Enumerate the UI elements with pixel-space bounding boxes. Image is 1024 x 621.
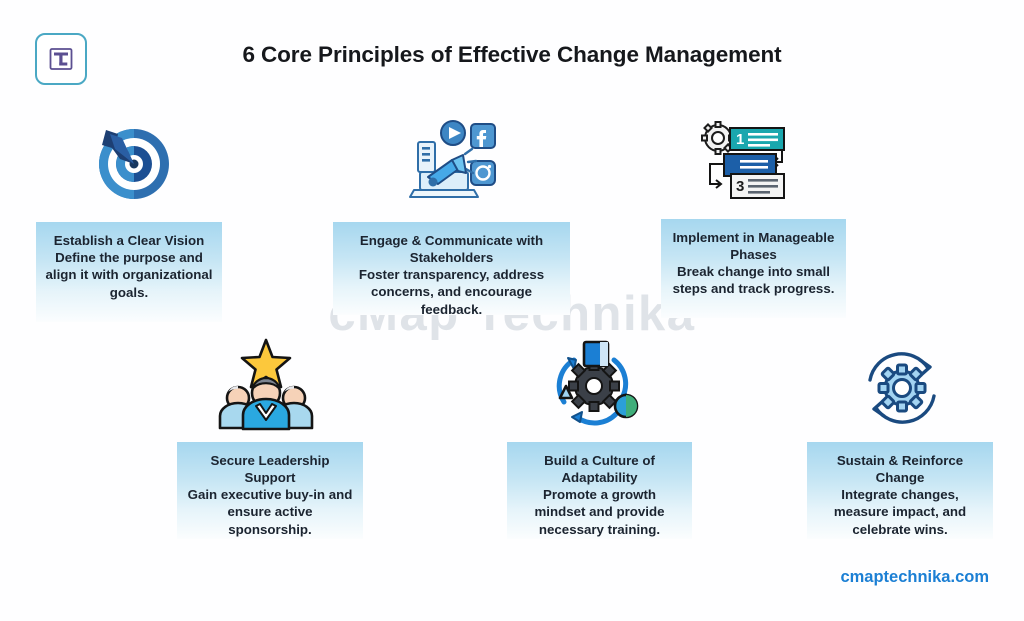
svg-text:1: 1 [736, 131, 744, 148]
svg-text:3: 3 [736, 178, 744, 195]
principle-card-4-title: Secure Leadership Support [186, 452, 354, 486]
megaphone-social-media-icon [408, 116, 500, 207]
leadership-team-star-icon [216, 336, 316, 437]
principle-card-3-description: Break change into small steps and track … [670, 263, 837, 298]
footer-website-url[interactable]: cmaptechnika.com [840, 568, 989, 587]
principle-card-6-description: Integrate changes, measure impact, and c… [816, 486, 984, 538]
page-title: 6 Core Principles of Effective Change Ma… [0, 42, 1024, 68]
principle-card-5: Build a Culture of Adaptability Promote … [507, 442, 692, 539]
principle-card-1-description: Define the purpose and align it with org… [45, 249, 213, 301]
principle-card-1: Establish a Clear Vision Define the purp… [36, 222, 222, 322]
principle-card-4-description: Gain executive buy-in and ensure active … [186, 486, 354, 538]
principle-card-2-description: Foster transparency, address concerns, a… [342, 266, 561, 318]
principle-card-3: Implement in Manageable Phases Break cha… [661, 219, 846, 318]
principle-card-4: Secure Leadership Support Gain executive… [177, 442, 363, 539]
principle-card-1-title: Establish a Clear Vision [45, 232, 213, 249]
principle-card-3-title: Implement in Manageable Phases [670, 229, 837, 263]
target-dart-icon [88, 118, 178, 211]
principle-card-5-description: Promote a growth mindset and provide nec… [516, 486, 683, 538]
workflow-phases-icon: 1 3 [698, 120, 794, 207]
gear-refresh-arrows-icon [858, 344, 946, 437]
principle-card-6: Sustain & Reinforce Change Integrate cha… [807, 442, 993, 539]
infographic-canvas: 6 Core Principles of Effective Change Ma… [0, 0, 1024, 621]
principle-card-5-title: Build a Culture of Adaptability [516, 452, 683, 486]
gear-cycle-shapes-icon [542, 336, 646, 437]
principle-card-2: Engage & Communicate with Stakeholders F… [333, 222, 570, 315]
principle-card-2-title: Engage & Communicate with Stakeholders [342, 232, 561, 266]
principle-card-6-title: Sustain & Reinforce Change [816, 452, 984, 486]
